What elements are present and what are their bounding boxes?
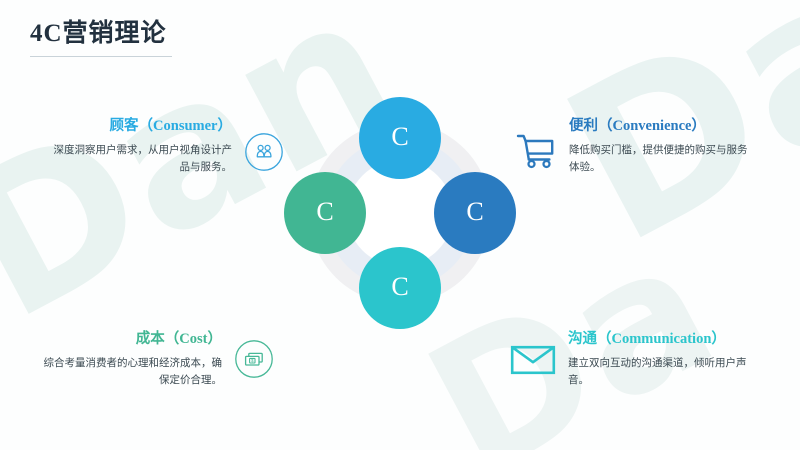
quadrant-communication-text: 沟通（Communication） 建立双向互动的沟通渠道，倾听用户声音。: [568, 331, 750, 389]
quadrant-communication[interactable]: 沟通（Communication） 建立双向互动的沟通渠道，倾听用户声音。: [510, 331, 750, 389]
diagram-node-letter: C: [466, 199, 483, 227]
quadrant-convenience-title: 便利（Convenience）: [569, 118, 751, 135]
diagram-node-convenience[interactable]: C: [434, 172, 516, 254]
four-c-diagram: C C C C: [290, 103, 510, 323]
diagram-node-consumer[interactable]: C: [359, 97, 441, 179]
envelope-icon: [510, 343, 556, 377]
quadrant-convenience[interactable]: 便利（Convenience） 降低购买门槛，提供便捷的购买与服务体验。: [515, 118, 751, 176]
quadrant-communication-title: 沟通（Communication）: [568, 331, 750, 348]
page-title: 4C营销理论: [30, 21, 167, 46]
quadrant-consumer-text: 顾客（Consumer） 深度洞察用户需求，从用户视角设计产品与服务。: [52, 118, 232, 176]
quadrant-consumer[interactable]: 顾客（Consumer） 深度洞察用户需求，从用户视角设计产品与服务。: [52, 118, 284, 176]
quadrant-cost-title: 成本（Cost）: [42, 331, 222, 348]
diagram-node-letter: C: [391, 124, 408, 152]
diagram-node-letter: C: [391, 274, 408, 302]
slide-header: 4C营销理论: [0, 0, 800, 62]
users-icon: [244, 132, 284, 172]
slide-canvas: Dan Dan Da 4C营销理论 C C C C 顾客（Consumer） 深…: [0, 0, 800, 450]
quadrant-consumer-description: 深度洞察用户需求，从用户视角设计产品与服务。: [52, 142, 232, 176]
diagram-node-letter: C: [316, 199, 333, 227]
quadrant-cost[interactable]: 成本（Cost） 综合考量消费者的心理和经济成本，确保定价合理。 $: [42, 331, 274, 389]
quadrant-convenience-text: 便利（Convenience） 降低购买门槛，提供便捷的购买与服务体验。: [569, 118, 751, 176]
quadrant-cost-description: 综合考量消费者的心理和经济成本，确保定价合理。: [42, 355, 222, 389]
title-divider: [30, 56, 172, 57]
quadrant-communication-description: 建立双向互动的沟通渠道，倾听用户声音。: [568, 355, 750, 389]
shopping-cart-icon: [515, 132, 557, 170]
banknotes-icon: $: [234, 339, 274, 379]
quadrant-cost-text: 成本（Cost） 综合考量消费者的心理和经济成本，确保定价合理。: [42, 331, 222, 389]
svg-text:$: $: [251, 358, 254, 363]
quadrant-consumer-title: 顾客（Consumer）: [52, 118, 232, 135]
diagram-node-communication[interactable]: C: [359, 247, 441, 329]
diagram-node-cost[interactable]: C: [284, 172, 366, 254]
quadrant-convenience-description: 降低购买门槛，提供便捷的购买与服务体验。: [569, 142, 751, 176]
